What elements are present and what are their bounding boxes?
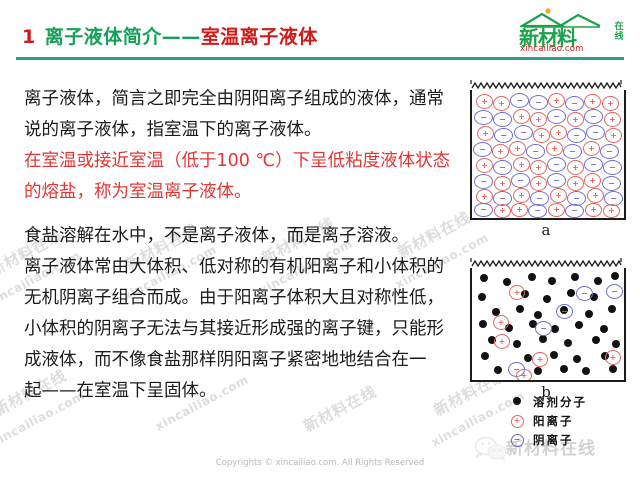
brand-logo[interactable]: 新材料 在线 xincailiao.com xyxy=(516,6,628,54)
cation-icon: + xyxy=(508,413,526,428)
paragraph-line-highlight: 在室温或接近室温（低于100 ℃）下呈低粘度液体状态 xyxy=(24,146,454,177)
paragraph-line: 成液体，而不像食盐那样阴阳离子紧密地地结合在一 xyxy=(24,345,454,376)
figure-legend: 溶剂分子 + 阳离子 − 阴离子 xyxy=(508,392,587,449)
surface-zigzag-icon xyxy=(470,256,622,268)
paragraph-line: 食盐溶解在水中，不是离子液体，而是离子溶液。 xyxy=(24,221,454,252)
paragraph-line-highlight: 的熔盐，称为室温离子液体。 xyxy=(24,177,454,208)
paragraph-line: 无机阴离子组合而成。由于阳离子体积大且对称性低， xyxy=(24,283,454,314)
section-number: 1 xyxy=(22,26,36,48)
legend-item-cation: + 阳离子 xyxy=(508,411,587,430)
figure-b-frame: + − − − + − + + + − + xyxy=(470,268,626,382)
paragraph-line: 说的离子液体，指室温下的离子液体。 xyxy=(24,115,454,146)
figure-a: + + − − + − + + − − + + − + − + + − − + … xyxy=(470,78,622,239)
paragraph-line: 小体积的阴离子无法与其接近形成强的离子键，只能形 xyxy=(24,314,454,345)
page-title: 1离子液体简介——室温离子液体 xyxy=(22,22,318,49)
slide-header: 1离子液体简介——室温离子液体 新材料 在线 xincailiao.com xyxy=(0,0,640,62)
title-primary-text: 离子液体简介—— xyxy=(45,26,201,48)
paragraph-line: 起——在室温下呈固体。 xyxy=(24,376,454,407)
title-divider xyxy=(16,57,624,60)
figure-a-caption: a xyxy=(470,221,622,239)
brand-url-label: xincailiao.com xyxy=(520,44,584,54)
figure-b: + − − − + − + + + − + b xyxy=(470,256,622,401)
footer-copyright: Copyrights © xincailiao.com. All Rights … xyxy=(0,458,640,468)
anion-icon: − xyxy=(508,432,526,447)
solvent-dot-icon xyxy=(508,395,526,408)
legend-label: 阴离子 xyxy=(533,432,574,448)
legend-label: 阳离子 xyxy=(533,413,574,429)
surface-zigzag-icon xyxy=(470,78,622,90)
legend-label: 溶剂分子 xyxy=(533,394,587,410)
figure-a-frame: + + − − + − + + − − + + − + − + + − − + … xyxy=(470,90,626,220)
paragraph-line: 离子液体，简言之即完全由阴阳离子组成的液体，通常 xyxy=(24,84,454,115)
title-emphasis-text: 室温离子液体 xyxy=(201,26,318,48)
body-content: 离子液体，简言之即完全由阴阳离子组成的液体，通常 说的离子液体，指室温下的离子液… xyxy=(24,84,454,407)
slide-canvas: 新材料在线 xincailiao.com 新材料在线 xincailiao.co… xyxy=(0,0,640,480)
legend-item-solvent: 溶剂分子 xyxy=(508,392,587,411)
paragraph-spacer xyxy=(24,208,454,221)
brand-suffix: 在线 xyxy=(612,22,626,42)
paragraph-line: 离子液体常由大体积、低对称的有机阳离子和小体积的 xyxy=(24,252,454,283)
legend-item-anion: − 阴离子 xyxy=(508,430,587,449)
